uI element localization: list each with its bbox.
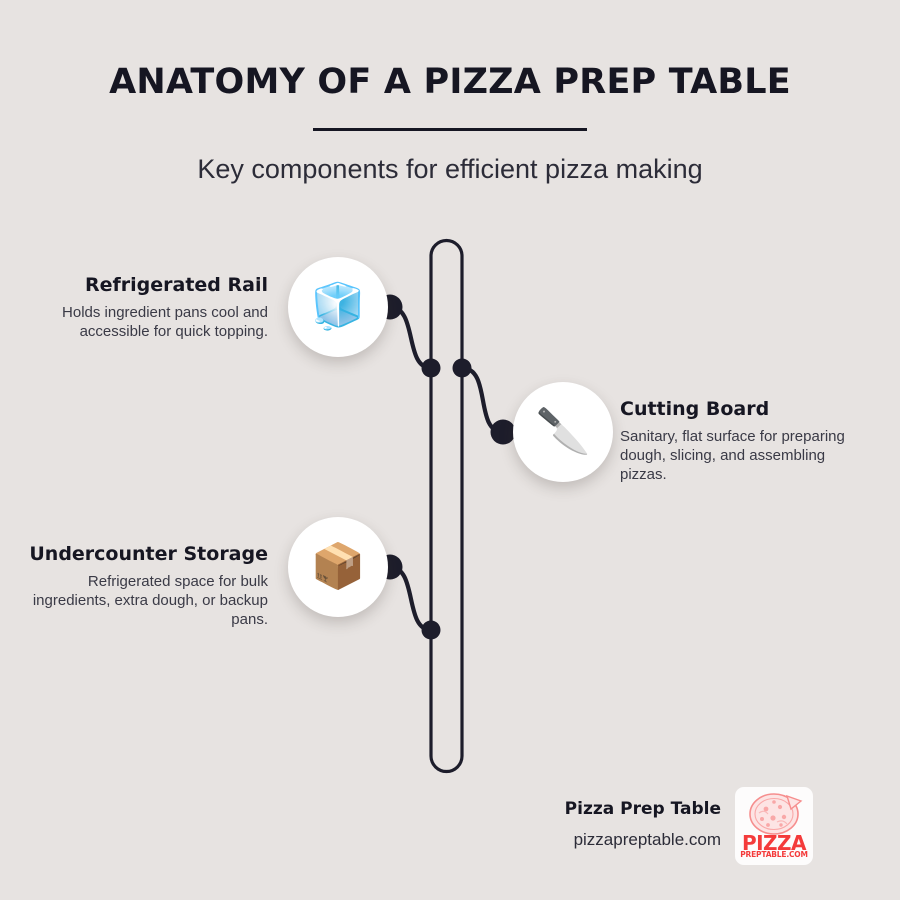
kitchen-knife-icon: 🔪 xyxy=(536,410,591,454)
icon-circle-undercounter-storage[interactable]: 📦 xyxy=(288,517,388,617)
connector-node-outer-2 xyxy=(491,420,516,445)
icon-circle-refrigerated-rail[interactable]: 🧊 xyxy=(288,257,388,357)
item-block-refrigerated-rail: Refrigerated Rail Holds ingredient pans … xyxy=(18,275,268,341)
item-block-undercounter-storage: Undercounter Storage Refrigerated space … xyxy=(18,544,268,629)
item-title-refrigerated-rail: Refrigerated Rail xyxy=(18,275,268,297)
item-description-cutting-board: Sanitary, flat surface for preparing dou… xyxy=(620,427,870,485)
item-title-undercounter-storage: Undercounter Storage xyxy=(18,544,268,566)
item-description-refrigerated-rail: Holds ingredient pans cool and accessibl… xyxy=(18,303,268,341)
footer-website-url[interactable]: pizzapreptable.com xyxy=(478,830,721,850)
brand-logo[interactable]: PIZZA PREPTABLE.COM xyxy=(735,787,813,865)
package-box-icon: 📦 xyxy=(311,545,366,589)
connector-node-inner-2 xyxy=(453,359,472,378)
icon-circle-cutting-board[interactable]: 🔪 xyxy=(513,382,613,482)
logo-wordmark-secondary: PREPTABLE.COM xyxy=(735,850,813,859)
item-block-cutting-board: Cutting Board Sanitary, flat surface for… xyxy=(620,399,870,484)
connector-path-2 xyxy=(462,368,503,432)
title-divider xyxy=(313,128,587,131)
footer-brand-name: Pizza Prep Table xyxy=(478,799,721,819)
item-description-undercounter-storage: Refrigerated space for bulk ingredients,… xyxy=(18,572,268,630)
page-title: ANATOMY OF A PIZZA PREP TABLE xyxy=(0,62,900,102)
infographic-canvas: ANATOMY OF A PIZZA PREP TABLE Key compon… xyxy=(0,0,900,900)
connector-path-1 xyxy=(390,307,431,368)
spine-capsule xyxy=(431,241,462,772)
page-subtitle: Key components for efficient pizza makin… xyxy=(0,154,900,185)
connector-node-inner-3 xyxy=(422,621,441,640)
item-title-cutting-board: Cutting Board xyxy=(620,399,870,421)
ice-cube-icon: 🧊 xyxy=(311,285,366,329)
connector-node-inner-1 xyxy=(422,359,441,378)
connector-path-3 xyxy=(390,567,431,630)
